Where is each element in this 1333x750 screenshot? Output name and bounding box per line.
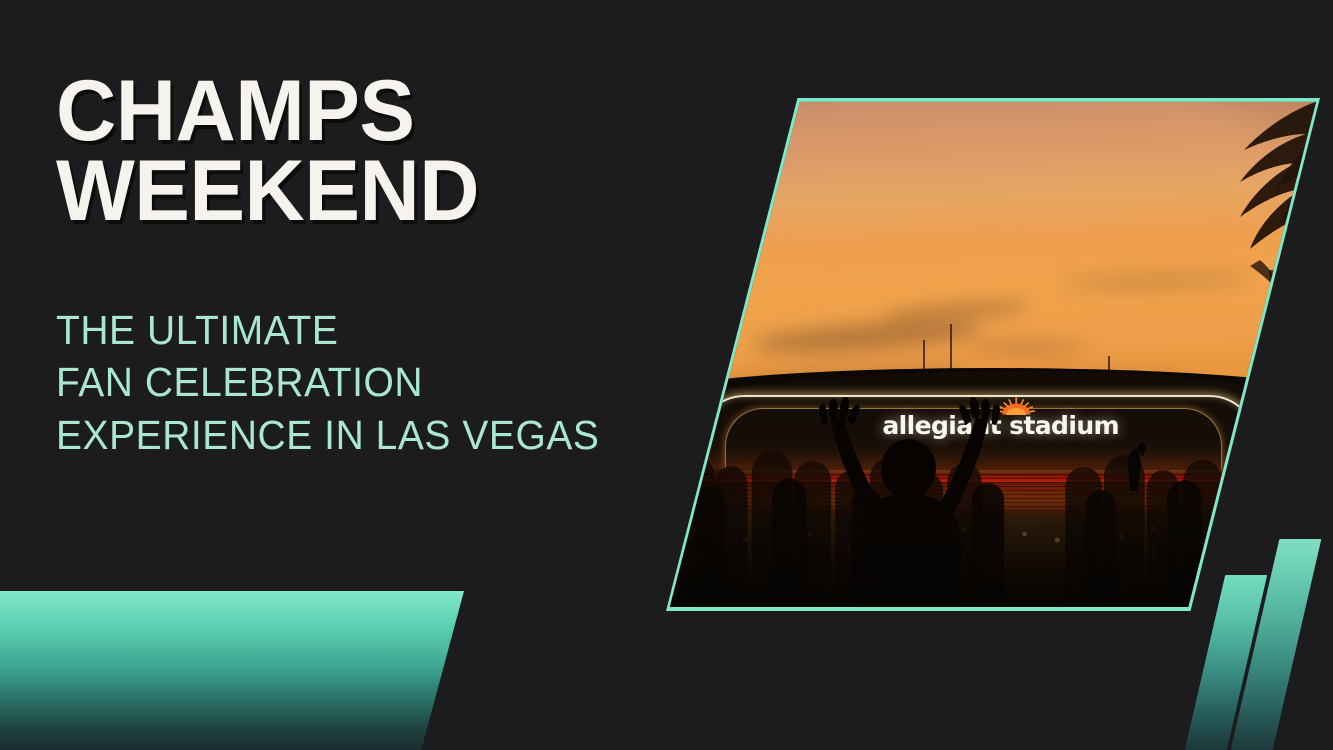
hero-text-column: CHAMPS WEEKEND THE ULTIMATE FAN CELEBRAT… [56, 72, 716, 461]
subtitle-line-2: FAN CELEBRATION [56, 356, 683, 408]
led-edge-shadow-right [1209, 469, 1320, 513]
accent-bars-group [1181, 538, 1333, 750]
teal-corner-shape [0, 591, 464, 750]
page-title: CHAMPS WEEKEND [56, 72, 696, 232]
hero-image-frame: allegiant stadium [666, 98, 1320, 611]
stadium-photo: allegiant stadium [666, 98, 1320, 611]
hero-image-panel: allegiant stadium [666, 98, 1320, 611]
headline-line-1: CHAMPS [56, 72, 696, 152]
hero-banner: CHAMPS WEEKEND THE ULTIMATE FAN CELEBRAT… [0, 0, 1333, 750]
palm-tree-icon [1140, 98, 1320, 338]
headline-line-2: WEEKEND [56, 152, 696, 232]
subtitle-line-3: EXPERIENCE IN LAS VEGAS [56, 409, 683, 461]
hero-subtitle: THE ULTIMATE FAN CELEBRATION EXPERIENCE … [56, 304, 683, 461]
subtitle-line-1: THE ULTIMATE [56, 304, 683, 356]
cloud-streak [967, 340, 1087, 355]
